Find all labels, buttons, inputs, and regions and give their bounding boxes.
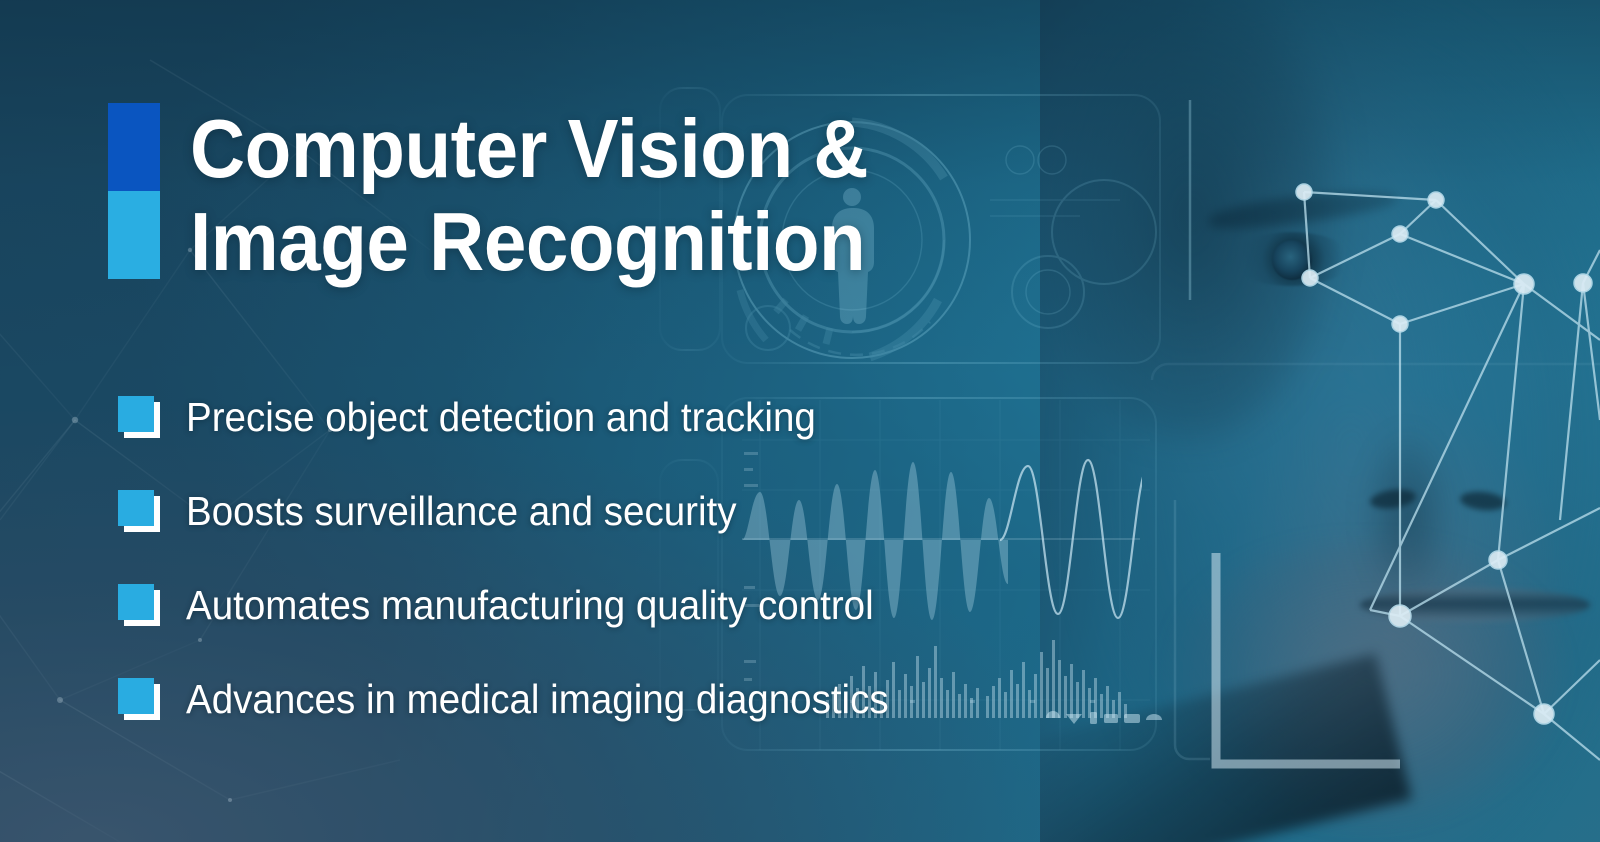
list-item-label: Advances in medical imaging diagnostics: [186, 676, 889, 723]
accent-bar: [108, 103, 160, 279]
slide-content: Computer Vision & Image Recognition Prec…: [0, 0, 1600, 842]
square-bullet-icon: [118, 678, 160, 720]
square-bullet-icon: [118, 396, 160, 438]
square-bullet-icon: [118, 584, 160, 626]
accent-bar-top-segment: [108, 103, 160, 191]
list-item-label: Precise object detection and tracking: [186, 394, 816, 441]
list-item: Advances in medical imaging diagnostics: [118, 674, 1198, 724]
square-bullet-fill: [118, 396, 154, 432]
list-item-label: Automates manufacturing quality control: [186, 582, 874, 629]
square-bullet-icon: [118, 490, 160, 532]
list-item-label: Boosts surveillance and security: [186, 488, 737, 535]
bullet-list: Precise object detection and tracking Bo…: [118, 392, 1198, 768]
square-bullet-fill: [118, 490, 154, 526]
square-bullet-fill: [118, 584, 154, 620]
list-item: Automates manufacturing quality control: [118, 580, 1198, 630]
square-bullet-fill: [118, 678, 154, 714]
slide-canvas: Computer Vision & Image Recognition Prec…: [0, 0, 1600, 842]
accent-bar-bottom-segment: [108, 191, 160, 279]
list-item: Boosts surveillance and security: [118, 486, 1198, 536]
page-title: Computer Vision & Image Recognition: [190, 103, 1073, 289]
list-item: Precise object detection and tracking: [118, 392, 1198, 442]
title-block: Computer Vision & Image Recognition: [108, 103, 1150, 289]
